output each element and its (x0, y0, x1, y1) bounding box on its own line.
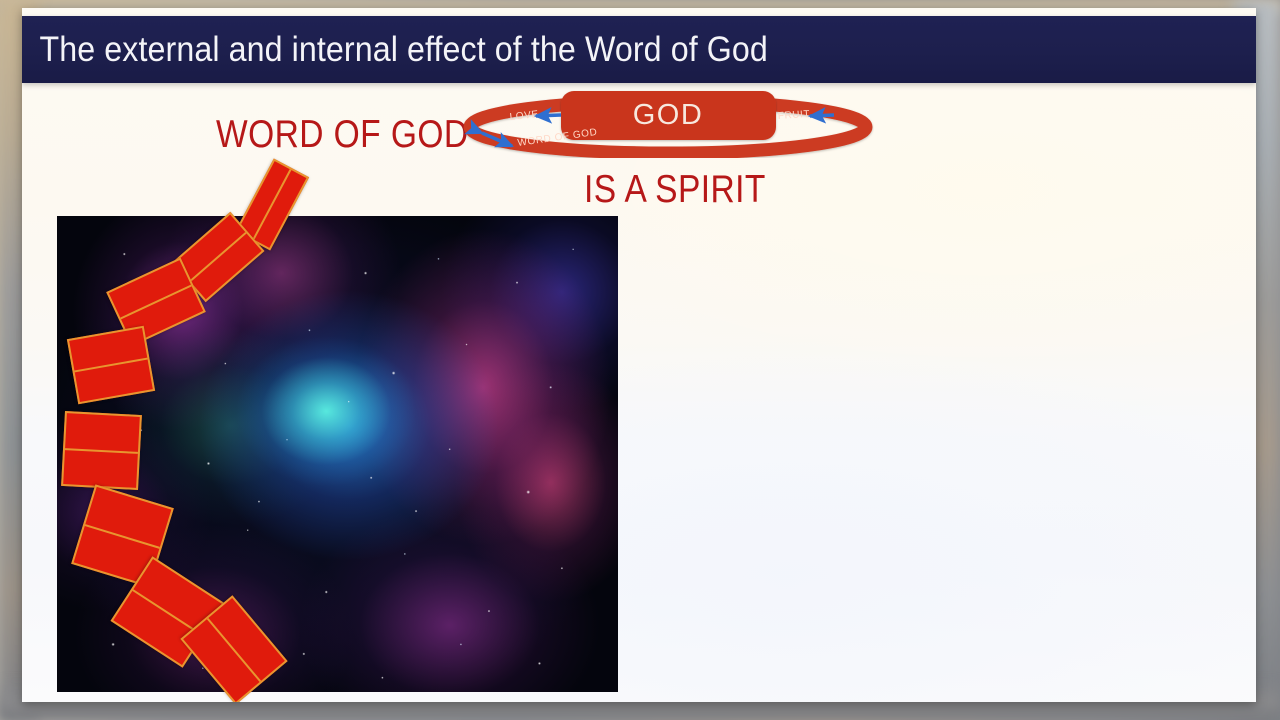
heading-word-of-god: WORD OF GOD (216, 113, 469, 157)
arrow-love (536, 115, 561, 116)
slide-outer-frame: The external and internal effect of the … (0, 0, 1280, 720)
presentation-slide: The external and internal effect of the … (22, 8, 1256, 702)
arrow-fruit (810, 115, 834, 116)
god-box-label: GOD (633, 99, 704, 131)
label-fruit: FRUIT (777, 109, 810, 122)
nebula-stars (57, 216, 618, 692)
nebula-space-image (57, 216, 618, 692)
slide-title: The external and internal effect of the … (22, 30, 768, 70)
label-love: LOVE (509, 109, 539, 123)
heading-is-a-spirit: IS A SPIRIT (584, 168, 766, 212)
god-is-a-spirit-diagram: GOD LOVE FRUIT WORD OF GOD (462, 86, 874, 158)
slide-title-bar: The external and internal effect of the … (22, 16, 1256, 83)
